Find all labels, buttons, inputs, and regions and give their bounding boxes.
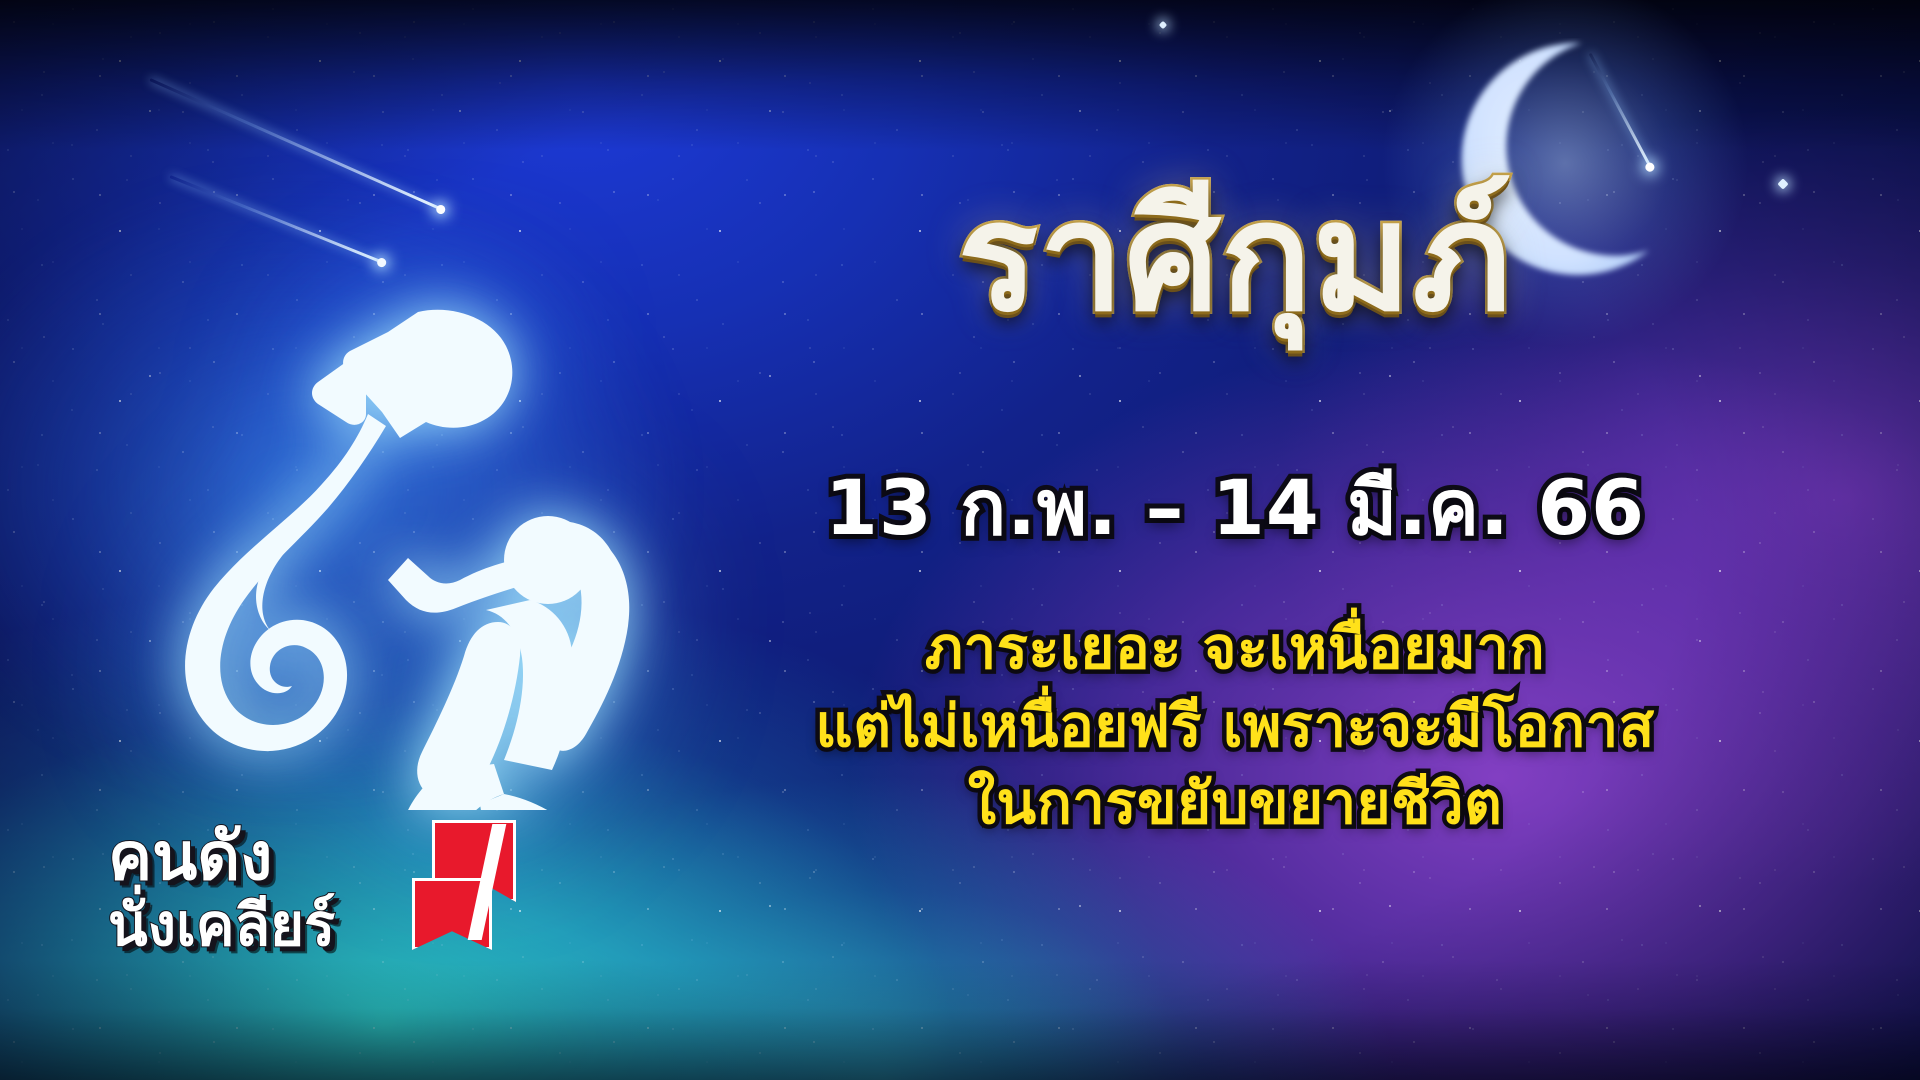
page-title-text: ราศีกุมภ์	[958, 171, 1513, 345]
date-range: 13 ก.พ. – 14 มี.ค. 66	[620, 448, 1850, 568]
aquarius-figure-shape	[100, 270, 660, 810]
forecast-line-1: ภาระเยอะ จะเหนื่อยมาก	[620, 610, 1850, 688]
page-title: ราศีกุมภ์	[660, 182, 1810, 335]
logo-line-1: คนดัง	[108, 824, 438, 890]
horoscope-graphic: ราศีกุมภ์ 13 ก.พ. – 14 มี.ค. 66 ภาระเยอะ…	[0, 0, 1920, 1080]
forecast-line-2: แต่ไม่เหนื่อยฟรี เพราะจะมีโอกาส	[620, 688, 1850, 766]
forecast-text-block: ภาระเยอะ จะเหนื่อยมาก แต่ไม่เหนื่อยฟรี เ…	[620, 610, 1850, 843]
aquarius-water-bearer-icon	[100, 270, 660, 810]
logo-line-2: นั่งเคลียร์	[108, 896, 438, 954]
channel-logo: คนดัง นั่งเคลียร์	[108, 818, 528, 968]
logo-wordmark: คนดัง นั่งเคลียร์	[108, 824, 438, 954]
forecast-line-3: ในการขยับขยายชีวิต	[620, 765, 1850, 843]
